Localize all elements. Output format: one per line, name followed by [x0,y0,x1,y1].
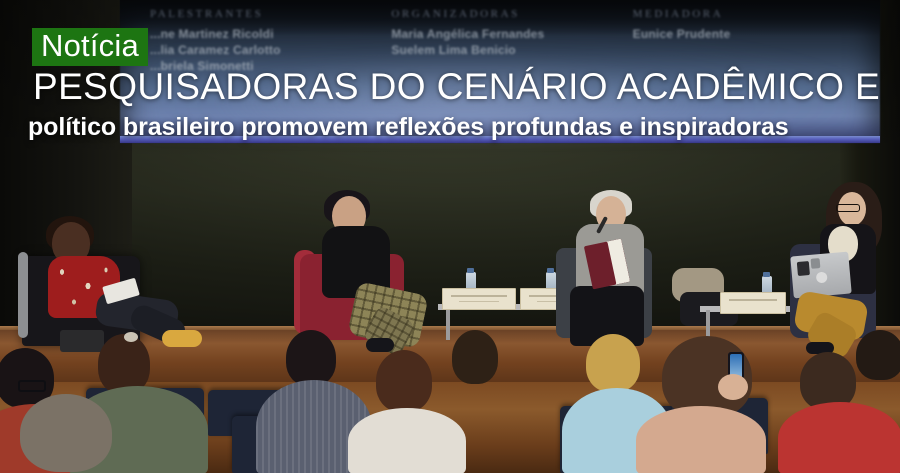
audience-shoulders [636,406,766,473]
bottle-cap [547,268,554,273]
nameplate-text-line [729,299,777,301]
category-badge[interactable]: Notícia [32,28,148,66]
audience-head [98,334,150,394]
news-banner: PALESTRANTES ...ne Martinez Ricoldi ...l… [0,0,900,473]
apple-logo-icon [811,258,821,269]
bottle-cap [467,268,474,273]
audience-head [586,334,640,392]
audience-head [856,330,900,380]
nameplate-subtext-line [459,301,499,302]
audience-shoulders [348,408,466,473]
chair-frame [18,252,28,338]
slide-name: ...lia Caramez Carlotto [150,43,367,57]
laptop-sticker [797,261,810,276]
slide-heading-organizadoras: ORGANIZADORAS [391,8,608,20]
audience-head [376,350,432,412]
slide-column-mediadora: MEDIADORA Eunice Prudente [633,8,850,78]
audience [0,330,900,473]
audience-head [286,330,336,386]
nameplate [442,288,516,310]
laptop-sticker [816,271,828,283]
audience-shoulders [778,402,900,473]
slide-name: Eunice Prudente [633,27,850,41]
projection-screen-edge [120,136,880,143]
slide-column-organizadoras: ORGANIZADORAS Maria Angélica Fernandes S… [391,8,608,78]
eyeglasses-icon [18,380,46,392]
audience-head [452,330,498,384]
laptop [790,252,851,299]
slide-heading-palestrantes: PALESTRANTES [150,8,367,20]
slide-name: ...ne Martinez Ricoldi [150,27,367,41]
slide-name: Maria Angélica Fernandes [391,27,608,41]
hand [718,374,748,400]
slide-heading-mediadora: MEDIADORA [633,8,850,20]
slide-name: ...briela Simonetti [150,59,367,73]
slide-column-palestrantes: PALESTRANTES ...ne Martinez Ricoldi ...l… [150,8,367,78]
nameplate-text-line [451,295,507,297]
nameplate [720,292,786,314]
bottle-cap [763,272,770,277]
slide-content: PALESTRANTES ...ne Martinez Ricoldi ...l… [150,8,850,78]
audience-head [20,394,112,472]
slide-name: Suelem Lima Benicio [391,43,608,57]
hair-tie [124,332,138,342]
event-photograph: PALESTRANTES ...ne Martinez Ricoldi ...l… [0,0,900,473]
glasses [836,204,860,212]
